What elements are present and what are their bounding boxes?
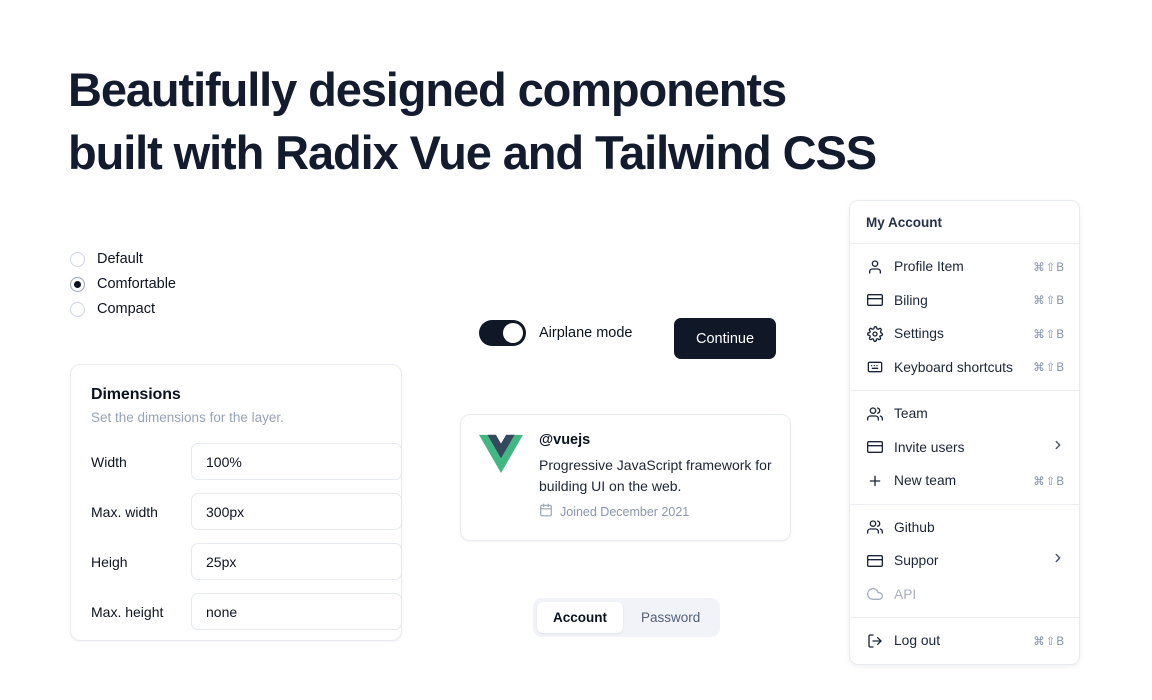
menu-item-keyboard-shortcuts[interactable]: Keyboard shortcuts⌘⇧B: [850, 351, 1079, 385]
menu-item-shortcut: ⌘⇧B: [1033, 474, 1065, 488]
chevron-right-icon: [1051, 438, 1065, 457]
hover-card-handle: @vuejs: [539, 432, 772, 448]
menu-title: My Account: [850, 201, 1079, 243]
menu-item-profile-item[interactable]: Profile Item⌘⇧B: [850, 250, 1079, 284]
menu-item-label: New team: [894, 473, 1033, 488]
dimensions-subtitle: Set the dimensions for the layer.: [91, 410, 381, 425]
radio-option-label: Comfortable: [97, 277, 176, 292]
menu-item-label: Github: [894, 520, 1065, 535]
menu-item-log-out[interactable]: Log out⌘⇧B: [850, 624, 1079, 658]
user-icon: [866, 258, 883, 275]
menu-item-shortcut: ⌘⇧B: [1033, 634, 1065, 648]
menu-item-team[interactable]: Team: [850, 397, 1079, 431]
logout-icon: [866, 632, 883, 649]
vuejs-hover-card: @vuejs Progressive JavaScript framework …: [460, 414, 791, 541]
radio-mark-icon: [70, 252, 85, 267]
dimension-label-width: Width: [91, 454, 191, 470]
plus-icon: [866, 472, 883, 489]
menu-item-shortcut: ⌘⇧B: [1033, 360, 1065, 374]
page-title: Beautifully designed components built wi…: [68, 58, 1028, 184]
dimension-row-width: Width: [91, 443, 381, 480]
dimension-label-heigh: Heigh: [91, 554, 191, 570]
chevron-right-icon: [1051, 551, 1065, 570]
joined-date: Joined December 2021: [560, 505, 689, 519]
radio-option-default[interactable]: Default: [70, 247, 300, 272]
airplane-mode-switch[interactable]: [479, 320, 526, 346]
dimension-label-max-width: Max. width: [91, 504, 191, 520]
menu-groups: Profile Item⌘⇧BBiling⌘⇧BSettings⌘⇧BKeybo…: [850, 244, 1079, 664]
menu-item-label: Suppor: [894, 553, 1051, 568]
account-dropdown-menu: My Account Profile Item⌘⇧BBiling⌘⇧BSetti…: [849, 200, 1080, 665]
dimension-input-max-height[interactable]: [191, 593, 402, 630]
menu-item-suppor[interactable]: Suppor: [850, 544, 1079, 578]
credit-card-icon: [866, 292, 883, 309]
radio-option-label: Compact: [97, 302, 155, 317]
users-icon: [866, 405, 883, 422]
credit-card-icon: [866, 439, 883, 456]
dimensions-title: Dimensions: [91, 386, 381, 404]
credit-card-icon: [866, 552, 883, 569]
hover-card-body: @vuejs Progressive JavaScript framework …: [539, 432, 772, 523]
dimensions-card: Dimensions Set the dimensions for the la…: [70, 364, 402, 641]
menu-item-label: Biling: [894, 293, 1033, 308]
menu-item-api: API: [850, 578, 1079, 612]
users-icon: [866, 519, 883, 536]
menu-group: Log out⌘⇧B: [850, 618, 1079, 664]
menu-item-label: Log out: [894, 633, 1033, 648]
keyboard-icon: [866, 359, 883, 376]
menu-item-shortcut: ⌘⇧B: [1033, 327, 1065, 341]
hover-card-meta: Joined December 2021: [539, 503, 772, 520]
density-radio-group: DefaultComfortableCompact: [70, 247, 300, 322]
calendar-icon: [539, 503, 553, 520]
radio-option-label: Default: [97, 252, 143, 267]
menu-item-settings[interactable]: Settings⌘⇧B: [850, 317, 1079, 351]
hero-section: Beautifully designed components built wi…: [68, 58, 1028, 184]
radio-mark-icon: [70, 277, 85, 292]
menu-item-label: Settings: [894, 326, 1033, 341]
menu-item-label: Team: [894, 406, 1065, 421]
dimension-label-max-height: Max. height: [91, 604, 191, 620]
dimensions-fields: WidthMax. widthHeighMax. height: [91, 443, 381, 630]
menu-item-label: API: [894, 587, 1065, 602]
dimension-input-heigh[interactable]: [191, 543, 402, 580]
radio-option-comfortable[interactable]: Comfortable: [70, 272, 300, 297]
menu-item-label: Keyboard shortcuts: [894, 360, 1033, 375]
switch-knob: [503, 323, 523, 343]
settings-tabs: AccountPassword: [533, 598, 720, 637]
continue-button[interactable]: Continue: [674, 318, 776, 359]
menu-item-biling[interactable]: Biling⌘⇧B: [850, 284, 1079, 318]
dimension-input-max-width[interactable]: [191, 493, 402, 530]
radio-mark-icon: [70, 302, 85, 317]
dimension-row-max-height: Max. height: [91, 593, 381, 630]
dimension-row-heigh: Heigh: [91, 543, 381, 580]
menu-item-label: Invite users: [894, 440, 1051, 455]
dimension-row-max-width: Max. width: [91, 493, 381, 530]
menu-item-github[interactable]: Github: [850, 511, 1079, 545]
cloud-icon: [866, 586, 883, 603]
menu-item-shortcut: ⌘⇧B: [1033, 293, 1065, 307]
dimension-input-width[interactable]: [191, 443, 402, 480]
hover-card-description: Progressive JavaScript framework for bui…: [539, 455, 772, 497]
menu-group: Profile Item⌘⇧BBiling⌘⇧BSettings⌘⇧BKeybo…: [850, 244, 1079, 390]
menu-item-shortcut: ⌘⇧B: [1033, 260, 1065, 274]
menu-group: TeamInvite usersNew team⌘⇧B: [850, 391, 1079, 504]
menu-group: GithubSupporAPI: [850, 505, 1079, 618]
vue-logo-icon: [479, 434, 523, 474]
menu-item-label: Profile Item: [894, 259, 1033, 274]
airplane-mode-label: Airplane mode: [539, 325, 633, 341]
menu-item-invite-users[interactable]: Invite users: [850, 431, 1079, 465]
menu-item-new-team[interactable]: New team⌘⇧B: [850, 464, 1079, 498]
tab-password[interactable]: Password: [625, 602, 716, 633]
tab-account[interactable]: Account: [537, 602, 623, 633]
radio-option-compact[interactable]: Compact: [70, 297, 300, 322]
airplane-mode-row: Airplane mode: [479, 320, 633, 346]
radio-dot-icon: [74, 281, 81, 288]
gear-icon: [866, 325, 883, 342]
